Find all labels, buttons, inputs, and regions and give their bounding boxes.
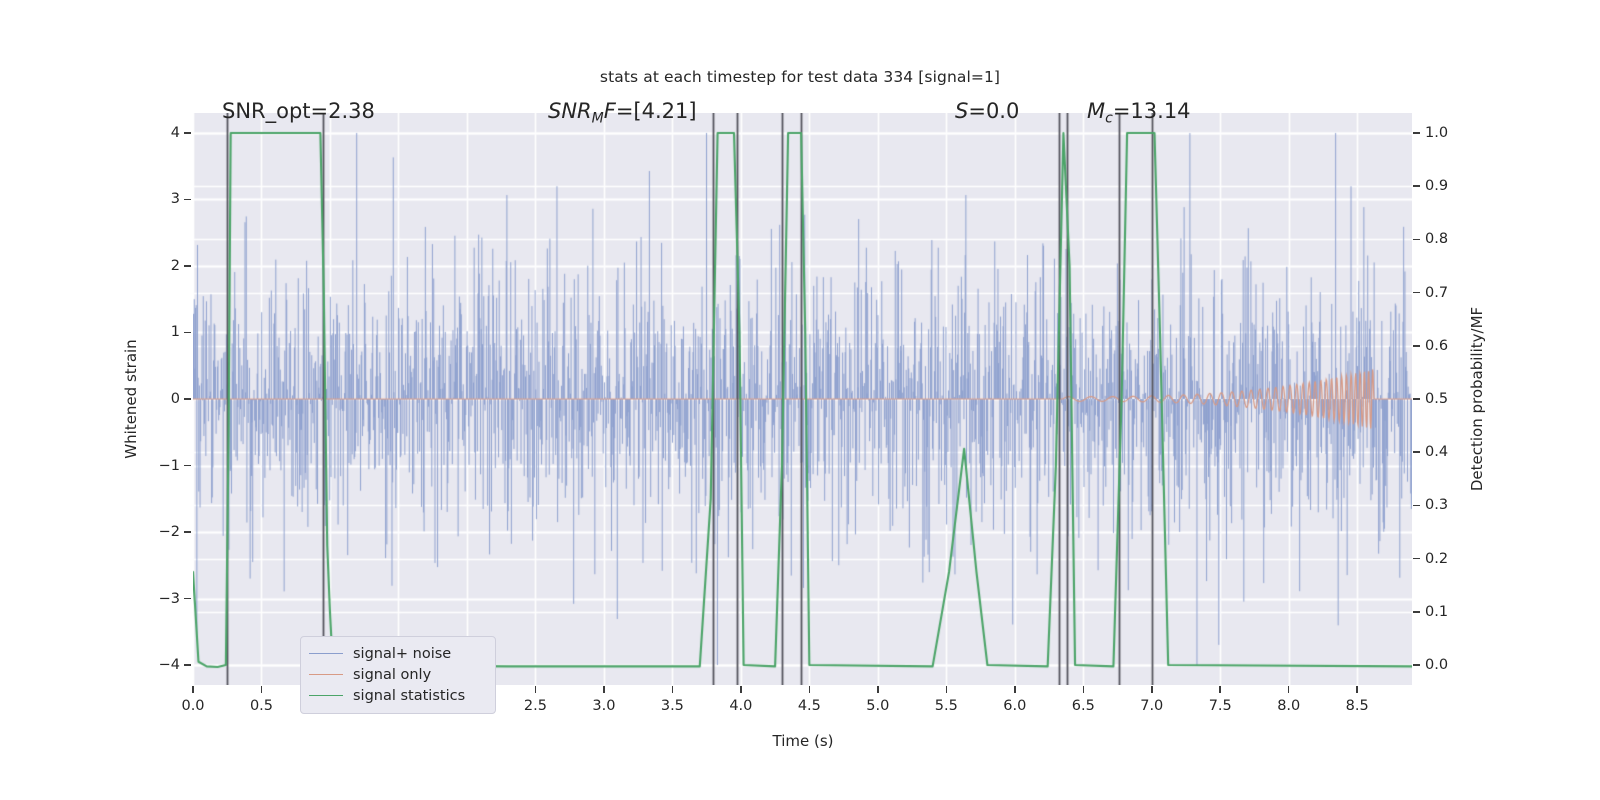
y-axis-right-tick-label: 1.0 xyxy=(1425,125,1448,141)
x-axis-tick-mark xyxy=(261,686,263,693)
matplotlib-figure: stats at each timestep for test data 334… xyxy=(0,0,1600,800)
chart-legend[interactable]: signal+ noise signal only signal statist… xyxy=(300,636,496,714)
y-axis-left-tick-label: −3 xyxy=(0,591,180,607)
x-axis-tick-label: 0.0 xyxy=(181,698,204,714)
y-axis-left-tick-label: 4 xyxy=(0,125,180,141)
y-axis-right-label: Detection probability/MF xyxy=(1468,307,1486,491)
y-axis-right-tick-label: 0.1 xyxy=(1425,604,1448,620)
y-axis-right-tick-label: 0.4 xyxy=(1425,444,1448,460)
legend-swatch-signal-statistics xyxy=(309,695,343,696)
y-axis-right-tick-label: 0.5 xyxy=(1425,391,1448,407)
y-axis-right-tick-label: 0.8 xyxy=(1425,231,1448,247)
y-axis-right-tick-label: 0.6 xyxy=(1425,338,1448,354)
x-axis-tick-mark xyxy=(1288,686,1290,693)
legend-item: signal+ noise xyxy=(309,643,487,664)
y-axis-left-tick-mark xyxy=(184,531,191,533)
annotation-s-stat: S=0.0 xyxy=(955,99,1019,123)
legend-swatch-signal-only xyxy=(309,674,343,675)
x-axis-tick-label: 8.0 xyxy=(1277,698,1300,714)
x-axis-tick-mark xyxy=(1014,686,1016,693)
x-axis-tick-label: 3.5 xyxy=(661,698,684,714)
legend-label: signal+ noise xyxy=(353,646,451,662)
x-axis-tick-label: 5.0 xyxy=(866,698,889,714)
x-axis-tick-label: 7.0 xyxy=(1140,698,1163,714)
x-axis-tick-mark xyxy=(603,686,605,693)
x-axis-tick-mark xyxy=(877,686,879,693)
y-axis-left-tick-label: −2 xyxy=(0,524,180,540)
x-axis-tick-label: 3.0 xyxy=(592,698,615,714)
x-axis-tick-mark xyxy=(946,686,948,693)
x-axis-tick-mark xyxy=(1219,686,1221,693)
y-axis-left-tick-mark xyxy=(184,132,191,134)
y-axis-right-tick-mark xyxy=(1413,185,1420,187)
y-axis-left-tick-label: −1 xyxy=(0,458,180,474)
x-axis-tick-label: 2.5 xyxy=(524,698,547,714)
y-axis-right-tick-mark xyxy=(1413,345,1420,347)
x-axis-tick-mark xyxy=(809,686,811,693)
x-axis-tick-label: 0.5 xyxy=(250,698,273,714)
y-axis-right-tick-mark xyxy=(1413,505,1420,507)
annotation-snr-opt: SNR_opt=2.38 xyxy=(222,99,375,123)
y-axis-right-tick-mark xyxy=(1413,558,1420,560)
x-axis-tick-label: 8.5 xyxy=(1346,698,1369,714)
y-axis-left-tick-label: 1 xyxy=(0,324,180,340)
x-axis-tick-mark xyxy=(535,686,537,693)
plot-area: SNR_opt=2.38 SNRMF=[4.21] S=0.0 Mc=13.14 xyxy=(193,113,1412,685)
x-axis-tick-label: 4.0 xyxy=(729,698,752,714)
y-axis-left-tick-label: −4 xyxy=(0,657,180,673)
y-axis-right-tick-mark xyxy=(1413,398,1420,400)
y-axis-right-tick-mark xyxy=(1413,239,1420,241)
y-axis-left-tick-label: 3 xyxy=(0,191,180,207)
x-axis-tick-label: 5.5 xyxy=(935,698,958,714)
x-axis-tick-label: 6.0 xyxy=(1003,698,1026,714)
x-axis-tick-mark xyxy=(672,686,674,693)
y-axis-right-tick-mark xyxy=(1413,664,1420,666)
x-axis-tick-mark xyxy=(1356,686,1358,693)
y-axis-right-tick-mark xyxy=(1413,611,1420,613)
x-axis-tick-mark xyxy=(1151,686,1153,693)
x-axis-label: Time (s) xyxy=(773,732,834,750)
annotation-snr-mf: SNRMF=[4.21] xyxy=(548,99,697,126)
y-axis-right-tick-label: 0.0 xyxy=(1425,657,1448,673)
y-axis-left-tick-mark xyxy=(184,664,191,666)
y-axis-left-tick-label: 2 xyxy=(0,258,180,274)
annotation-chirp-mass: Mc=13.14 xyxy=(1087,99,1191,126)
y-axis-left-tick-mark xyxy=(184,398,191,400)
x-axis-tick-label: 4.5 xyxy=(798,698,821,714)
y-axis-right-tick-label: 0.7 xyxy=(1425,285,1448,301)
y-axis-right-tick-mark xyxy=(1413,451,1420,453)
y-axis-right-tick-label: 0.3 xyxy=(1425,497,1448,513)
y-axis-right-tick-mark xyxy=(1413,292,1420,294)
x-axis-tick-mark xyxy=(1083,686,1085,693)
legend-item: signal only xyxy=(309,664,487,685)
legend-swatch-signal-noise xyxy=(309,653,343,654)
y-axis-left-tick-mark xyxy=(184,265,191,267)
y-axis-left-tick-label: 0 xyxy=(0,391,180,407)
y-axis-right-tick-mark xyxy=(1413,132,1420,134)
legend-label: signal only xyxy=(353,667,431,683)
y-axis-left-tick-mark xyxy=(184,332,191,334)
y-axis-right-tick-label: 0.2 xyxy=(1425,551,1448,567)
y-axis-right-tick-label: 0.9 xyxy=(1425,178,1448,194)
y-axis-left-tick-mark xyxy=(184,465,191,467)
x-axis-tick-label: 7.5 xyxy=(1209,698,1232,714)
chart-title: stats at each timestep for test data 334… xyxy=(0,68,1600,86)
legend-item: signal statistics xyxy=(309,685,487,706)
y-axis-left-label: Whitened strain xyxy=(122,339,140,458)
x-axis-tick-mark xyxy=(192,686,194,693)
chart-canvas xyxy=(193,113,1412,685)
y-axis-left-tick-mark xyxy=(184,598,191,600)
y-axis-left-tick-mark xyxy=(184,199,191,201)
legend-label: signal statistics xyxy=(353,688,465,704)
x-axis-tick-mark xyxy=(740,686,742,693)
x-axis-tick-label: 6.5 xyxy=(1072,698,1095,714)
